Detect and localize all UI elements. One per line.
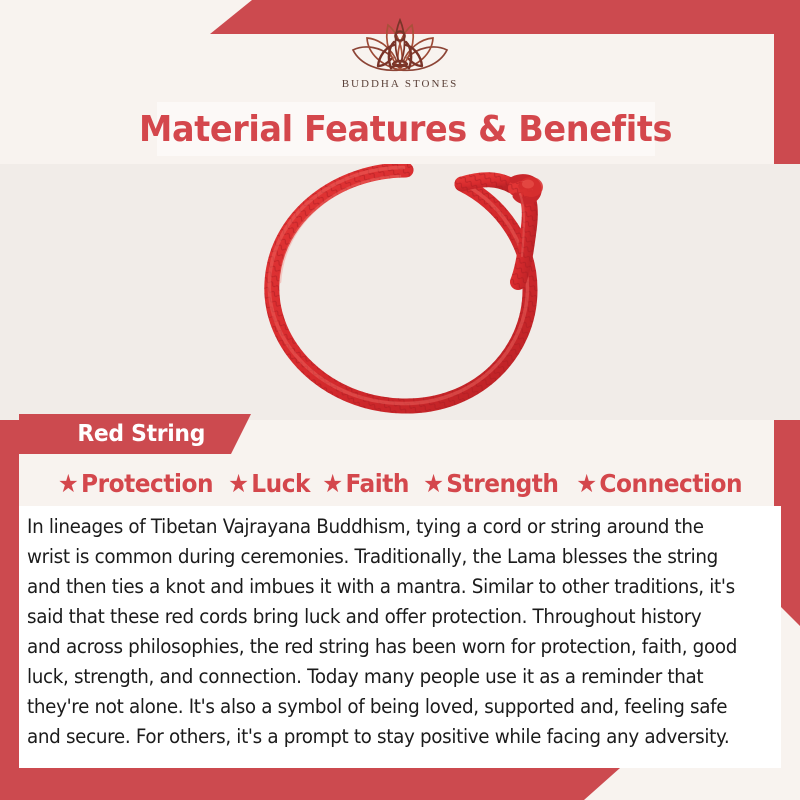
benefit-label: Protection (81, 469, 213, 498)
star-icon: ★ (58, 471, 78, 496)
infographic-page: BUDDHA STONES Material Features & Benefi… (0, 0, 800, 800)
benefit-item-faith: ★ Faith (322, 469, 409, 498)
star-icon: ★ (423, 471, 443, 496)
benefit-label: Luck (251, 469, 310, 498)
bottom-red-accent-bar (0, 768, 620, 800)
page-title: Material Features & Benefits (140, 109, 673, 150)
benefit-item-connection: ★ Connection (576, 469, 742, 498)
description-panel: In lineages of Tibetan Vajrayana Buddhis… (19, 506, 781, 768)
star-icon: ★ (322, 471, 342, 496)
brand-name: BUDDHA STONES (342, 78, 459, 90)
lotus-meditation-icon (336, 14, 464, 76)
star-icon: ★ (228, 471, 248, 496)
benefit-label: Faith (345, 469, 409, 498)
product-name-label: Red String (77, 421, 205, 447)
benefit-label: Connection (599, 469, 742, 498)
benefit-item-strength: ★ Strength (423, 469, 558, 498)
product-photo (0, 164, 800, 420)
benefit-item-luck: ★ Luck (228, 469, 310, 498)
product-name-ribbon: Red String (19, 414, 251, 454)
benefits-row: ★ Protection ★ Luck ★ Faith ★ Strength ★… (19, 462, 781, 504)
benefit-item-protection: ★ Protection (58, 469, 213, 498)
title-banner: Material Features & Benefits (157, 102, 655, 156)
description-text: In lineages of Tibetan Vajrayana Buddhis… (27, 512, 739, 752)
brand-logo: BUDDHA STONES (336, 14, 464, 90)
benefit-label: Strength (446, 469, 558, 498)
brand-header: BUDDHA STONES (0, 0, 800, 100)
red-string-bracelet-image (230, 164, 590, 420)
star-icon: ★ (576, 471, 596, 496)
